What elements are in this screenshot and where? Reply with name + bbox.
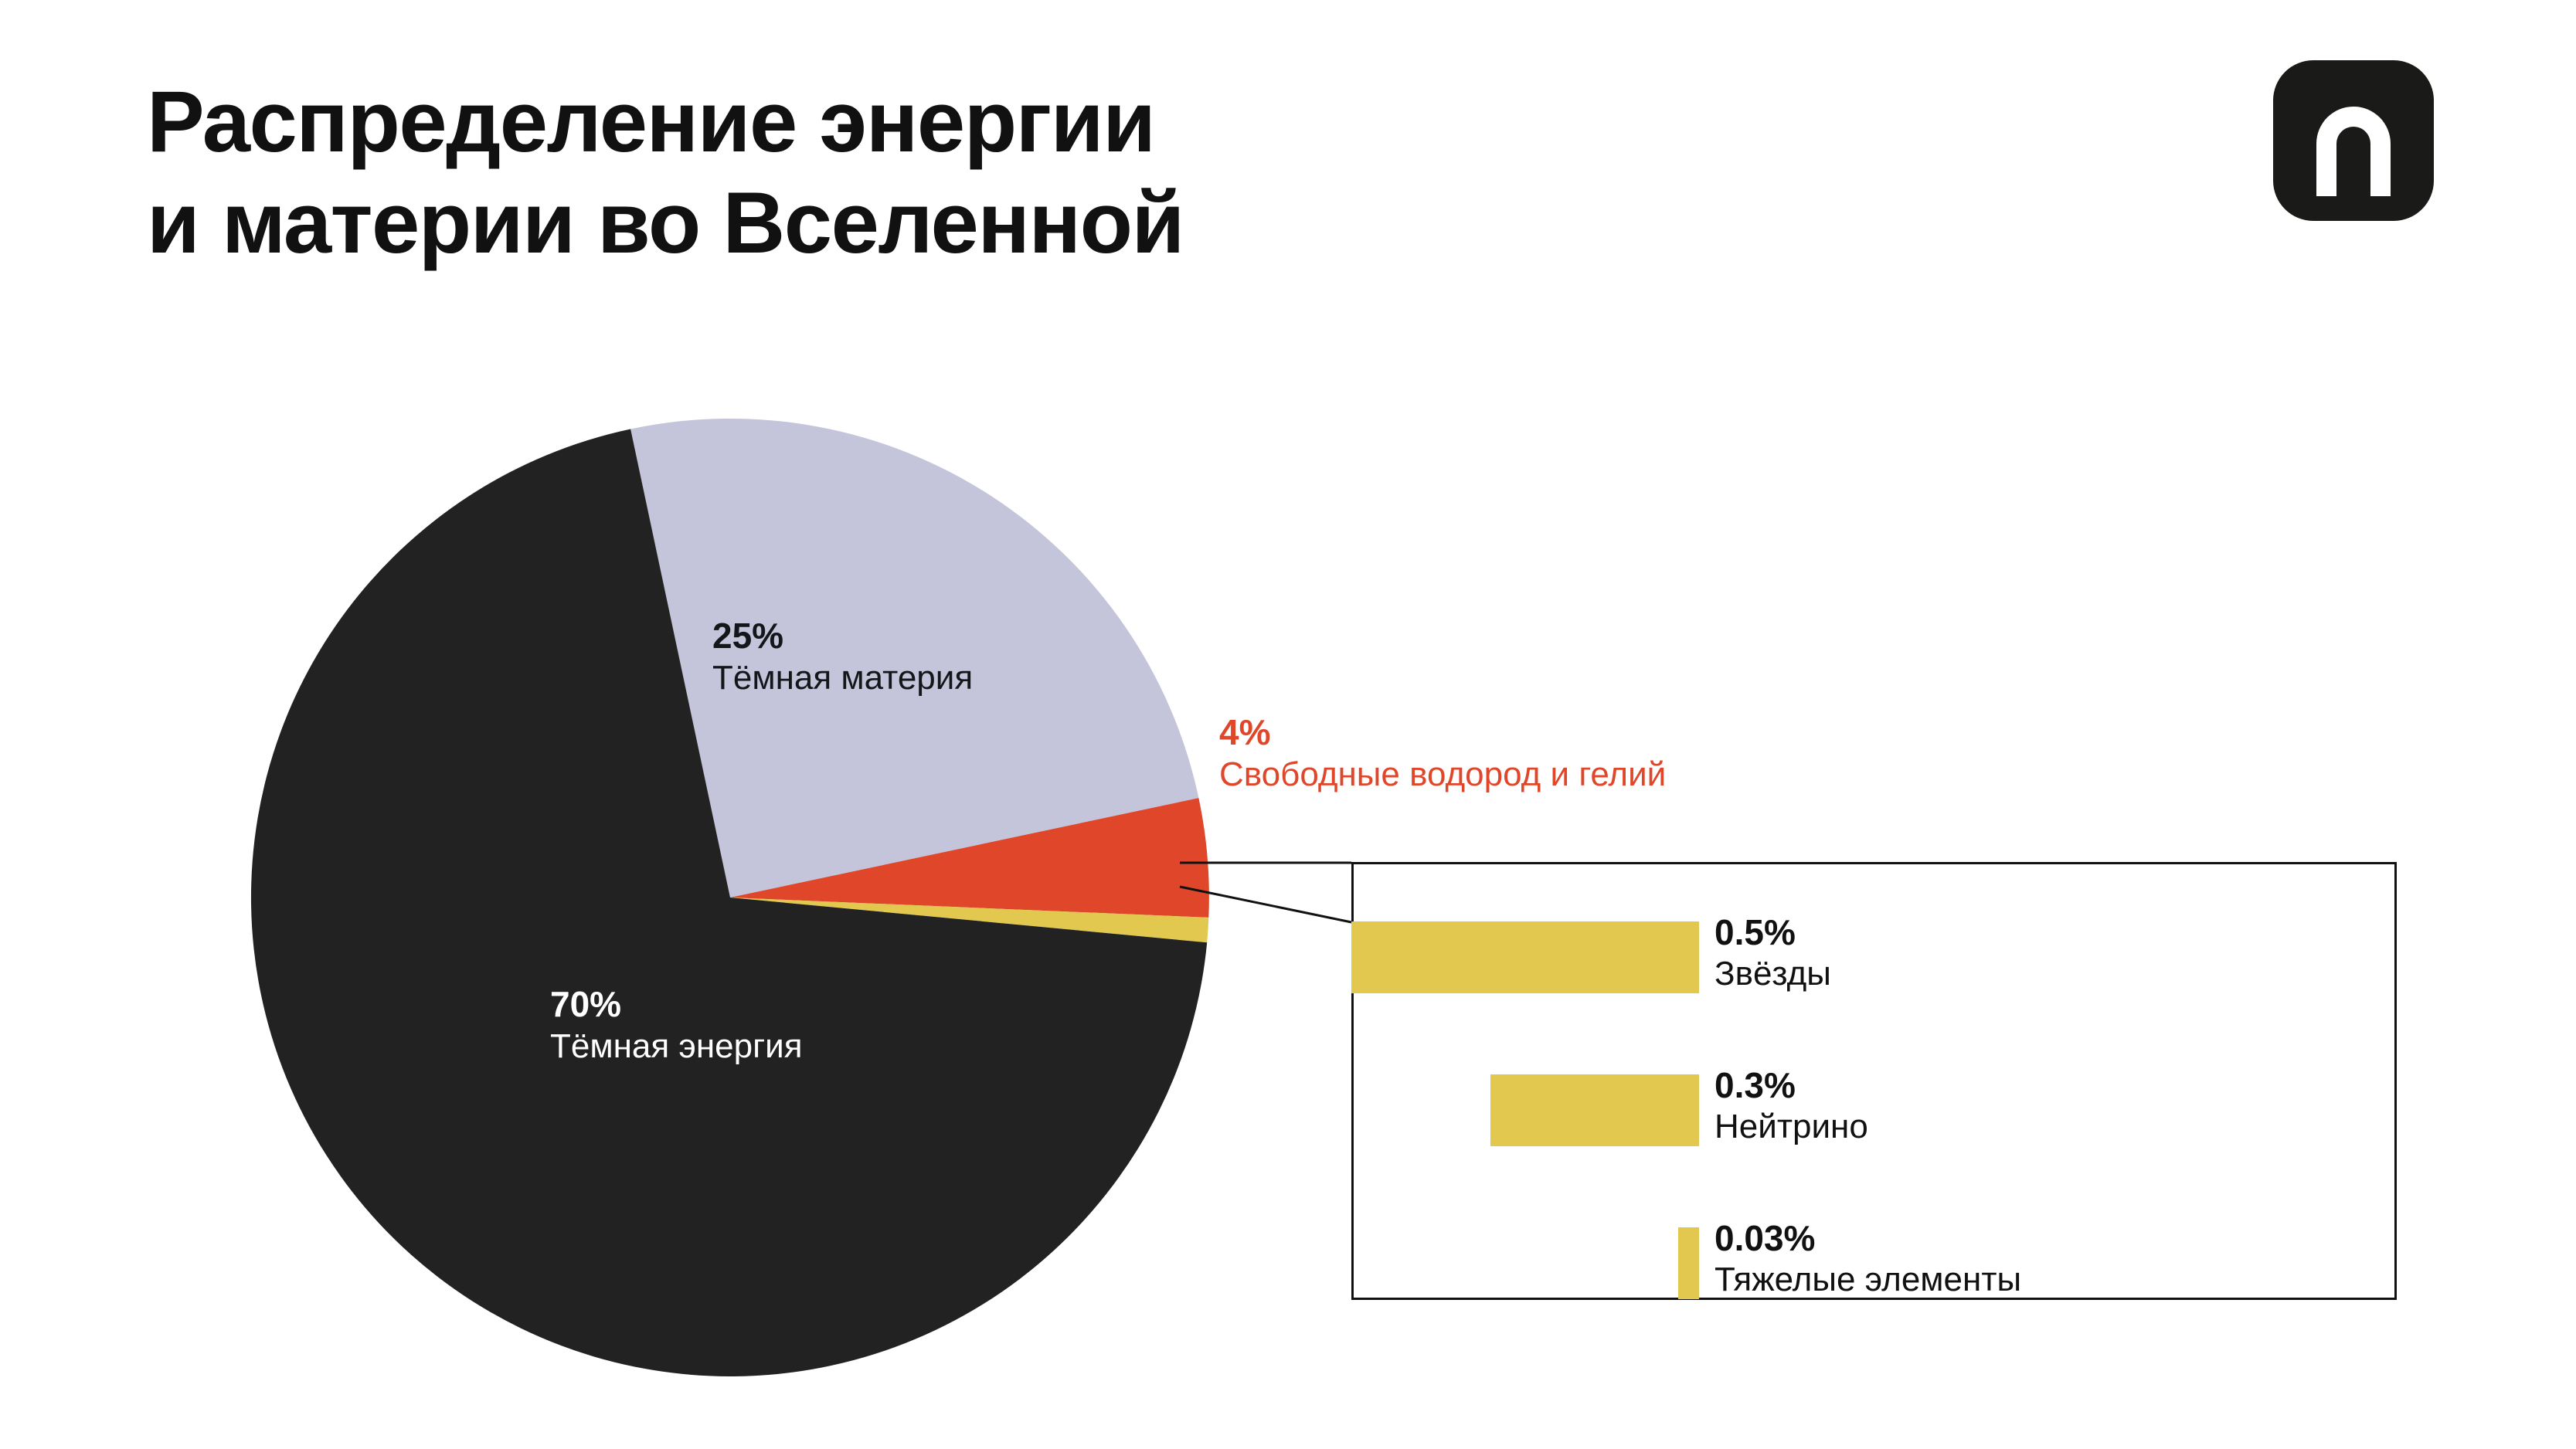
pie-label-dark-energy-percent: 70%: [550, 982, 803, 1026]
bar-row: 0.5% Звёзды: [1351, 921, 2397, 993]
bar-label-stars: 0.5% Звёзды: [1715, 911, 1831, 995]
infographic-canvas: Распределение энергии и материи во Вселе…: [0, 0, 2576, 1449]
page-title: Распределение энергии и материи во Вселе…: [147, 71, 2156, 273]
bar-label-stars-name: Звёзды: [1715, 954, 1831, 995]
bar-label-neutrinos: 0.3% Нейтрино: [1715, 1064, 1868, 1148]
pie-label-dark-matter-name: Тёмная материя: [712, 657, 973, 699]
bar-track: [1351, 1227, 1699, 1299]
pie-chart-svg: [251, 419, 1209, 1376]
page-title-line-1: Распределение энергии: [147, 71, 2156, 172]
bar-row: 0.3% Нейтрино: [1351, 1074, 2397, 1146]
n-logo-icon: [2273, 60, 2434, 221]
bar-label-heavy-elements-name: Тяжелые элементы: [1715, 1260, 2021, 1301]
pie-label-dark-energy: 70% Тёмная энергия: [550, 982, 803, 1067]
bar-row: 0.03% Тяжелые элементы: [1351, 1227, 2397, 1299]
pie-label-dark-energy-name: Тёмная энергия: [550, 1026, 803, 1067]
bar-label-neutrinos-name: Нейтрино: [1715, 1107, 1868, 1148]
bar-heavy-elements: [1678, 1227, 1699, 1299]
pie-chart: [251, 419, 1209, 1376]
bar-track: [1351, 921, 1699, 993]
page-title-line-2: и материи во Вселенной: [147, 172, 2156, 273]
bar-chart: 0.5% Звёзды 0.3% Нейтрино 0.03% Тяжелые …: [1351, 862, 2397, 1300]
bar-label-neutrinos-percent: 0.3%: [1715, 1064, 1868, 1107]
pie-label-free-hydrogen-helium: 4% Свободные водород и гелий: [1219, 711, 1666, 796]
pie-label-dark-matter: 25% Тёмная материя: [712, 614, 973, 699]
bar-label-stars-percent: 0.5%: [1715, 911, 1831, 954]
bar-track: [1351, 1074, 1699, 1146]
bar-neutrinos: [1490, 1074, 1699, 1146]
pie-label-dark-matter-percent: 25%: [712, 614, 973, 657]
pie-label-free-hydrogen-helium-percent: 4%: [1219, 711, 1666, 754]
pie-label-free-hydrogen-helium-name: Свободные водород и гелий: [1219, 754, 1666, 796]
bar-label-heavy-elements: 0.03% Тяжелые элементы: [1715, 1217, 2021, 1301]
bar-label-heavy-elements-percent: 0.03%: [1715, 1217, 2021, 1260]
bar-stars: [1351, 921, 1699, 993]
